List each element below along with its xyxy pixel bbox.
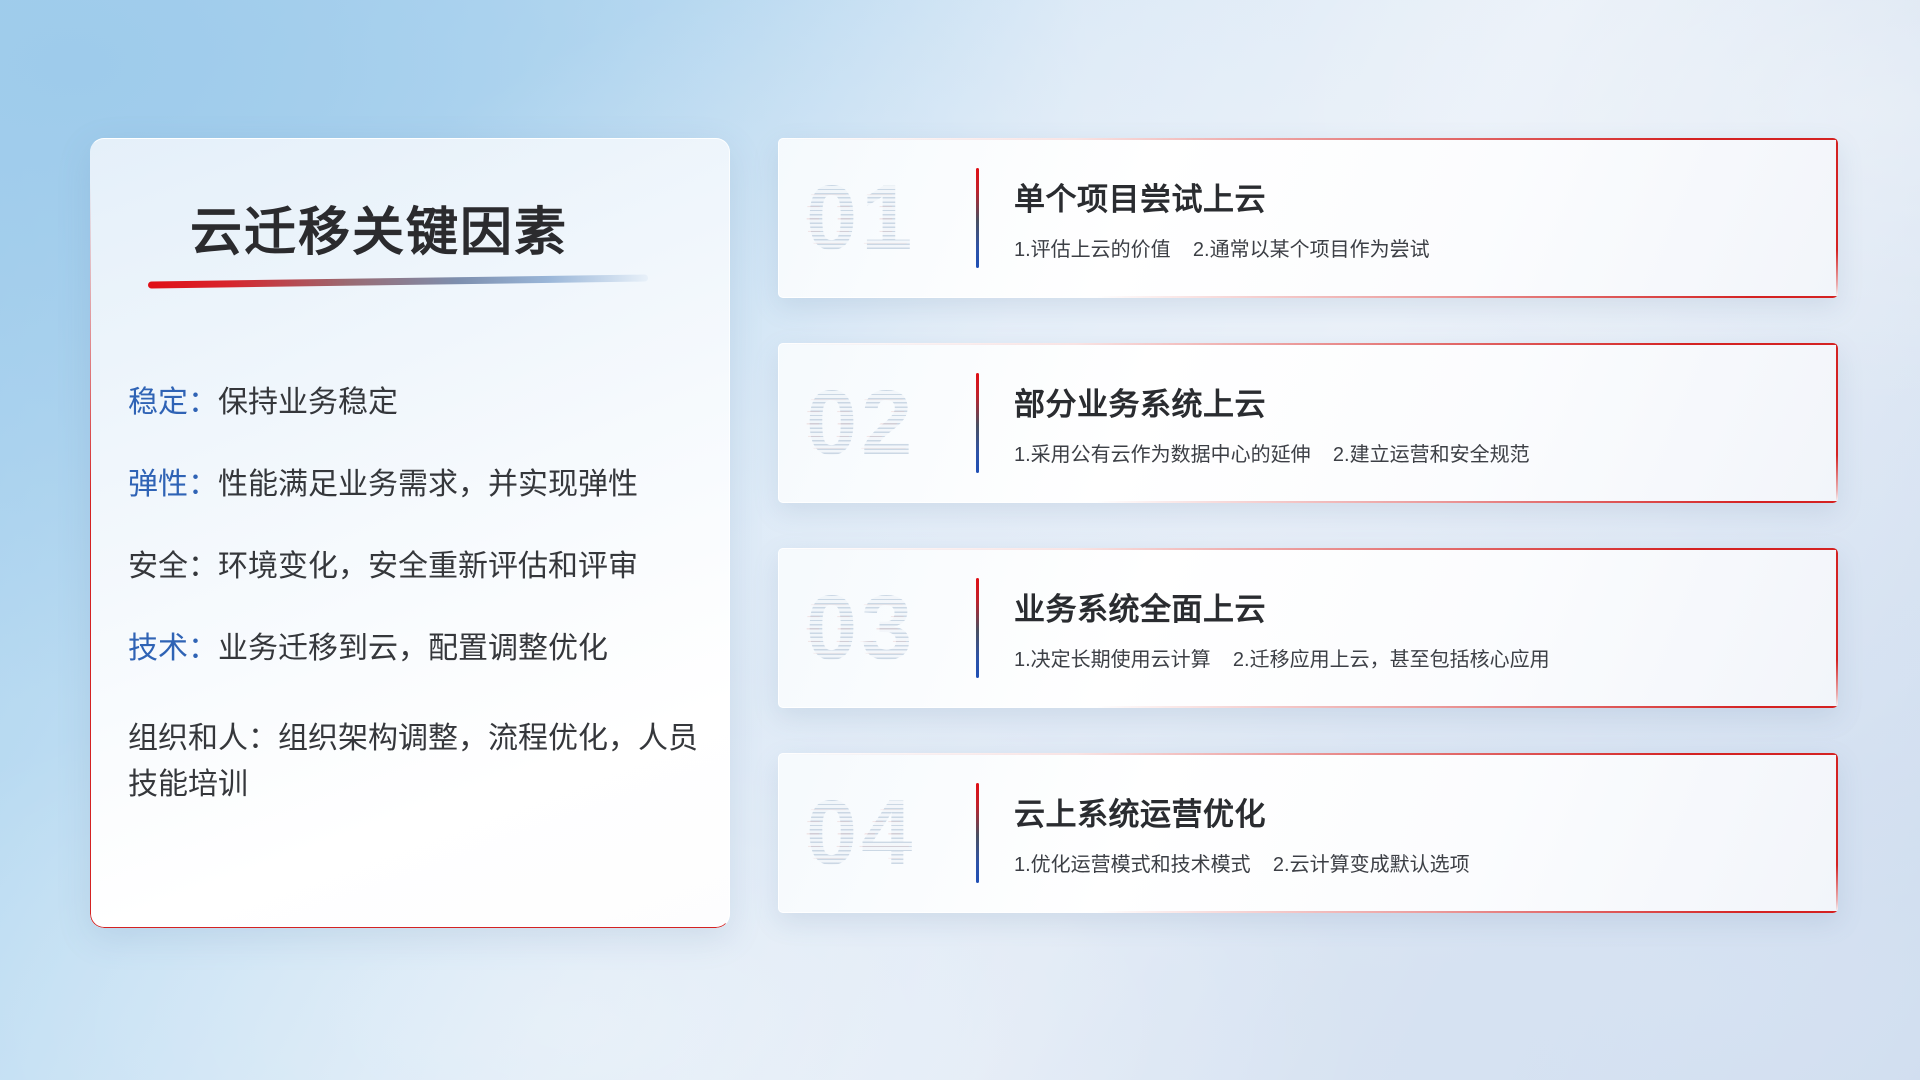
stage-subtitle-04: 1.优化运营模式和技术模式 2.云计算变成默认选项 xyxy=(1014,848,1798,877)
factor-value-stability: 保持业务稳定 xyxy=(218,386,398,419)
stage-number-03: 03 xyxy=(806,582,916,674)
factor-list: 稳定：保持业务稳定 弹性：性能满足业务需求，并实现弹性 安全：环境变化，安全重新… xyxy=(128,388,700,859)
card-accent-bar xyxy=(976,783,979,883)
stage-card-03[interactable]: 03 业务系统全面上云 1.决定长期使用云计算 2.迁移应用上云，甚至包括核心应… xyxy=(778,548,1838,708)
card-body: 部分业务系统上云 1.采用公有云作为数据中心的延伸 2.建立运营和安全规范 xyxy=(1014,379,1798,467)
card-red-top-edge xyxy=(778,343,1838,345)
card-red-right-edge xyxy=(1836,548,1838,708)
page-title: 云迁移关键因素 xyxy=(190,190,568,265)
stage-subtitle-02: 1.采用公有云作为数据中心的延伸 2.建立运营和安全规范 xyxy=(1014,438,1798,467)
card-red-right-edge xyxy=(1836,343,1838,503)
factor-value-elasticity: 性能满足业务需求，并实现弹性 xyxy=(218,468,638,501)
factor-item-elasticity: 弹性：性能满足业务需求，并实现弹性 xyxy=(128,470,700,500)
stage-number-04: 04 xyxy=(806,787,916,879)
stage-card-01[interactable]: 01 单个项目尝试上云 1.评估上云的价值 2.通常以某个项目作为尝试 xyxy=(778,138,1838,298)
card-body: 业务系统全面上云 1.决定长期使用云计算 2.迁移应用上云，甚至包括核心应用 xyxy=(1014,584,1798,672)
stage-title-01: 单个项目尝试上云 xyxy=(1014,174,1798,219)
migration-stage-cards: 01 单个项目尝试上云 1.评估上云的价值 2.通常以某个项目作为尝试 02 部… xyxy=(778,138,1838,958)
stage-subtitle-03: 1.决定长期使用云计算 2.迁移应用上云，甚至包括核心应用 xyxy=(1014,643,1798,672)
factor-value-technology: 业务迁移到云，配置调整优化 xyxy=(218,632,608,665)
card-red-top-edge xyxy=(778,548,1838,550)
title-underline-rule xyxy=(148,275,648,289)
factor-item-technology: 技术：业务迁移到云，配置调整优化 xyxy=(128,634,700,664)
factor-item-stability: 稳定：保持业务稳定 xyxy=(128,388,700,418)
stage-number-02: 02 xyxy=(806,377,916,469)
card-body: 单个项目尝试上云 1.评估上云的价值 2.通常以某个项目作为尝试 xyxy=(1014,174,1798,262)
card-red-top-edge xyxy=(778,753,1838,755)
stage-title-02: 部分业务系统上云 xyxy=(1014,379,1798,424)
card-accent-bar xyxy=(976,578,979,678)
card-body: 云上系统运营优化 1.优化运营模式和技术模式 2.云计算变成默认选项 xyxy=(1014,789,1798,877)
card-red-right-edge xyxy=(1836,138,1838,298)
factor-value-security: 环境变化，安全重新评估和评审 xyxy=(218,550,638,583)
stage-title-04: 云上系统运营优化 xyxy=(1014,789,1798,834)
card-red-top-edge xyxy=(778,138,1838,140)
factor-label-stability: 稳定： xyxy=(128,386,218,419)
factor-label-technology: 技术： xyxy=(128,632,218,665)
factor-label-security: 安全： xyxy=(128,550,218,583)
factor-label-organization: 组织和人： xyxy=(128,722,278,755)
stage-title-03: 业务系统全面上云 xyxy=(1014,584,1798,629)
slide-canvas: 云迁移关键因素 稳定：保持业务稳定 弹性：性能满足业务需求，并实现弹性 安全：环… xyxy=(0,0,1920,1080)
card-accent-bar xyxy=(976,373,979,473)
stage-card-02[interactable]: 02 部分业务系统上云 1.采用公有云作为数据中心的延伸 2.建立运营和安全规范 xyxy=(778,343,1838,503)
factor-item-security: 安全：环境变化，安全重新评估和评审 xyxy=(128,552,700,582)
stage-card-04[interactable]: 04 云上系统运营优化 1.优化运营模式和技术模式 2.云计算变成默认选项 xyxy=(778,753,1838,913)
card-red-bottom-edge xyxy=(778,296,1838,298)
card-accent-bar xyxy=(976,168,979,268)
factor-item-organization: 组织和人：组织架构调整，流程优化，人员技能培训 xyxy=(128,716,700,807)
stage-subtitle-01: 1.评估上云的价值 2.通常以某个项目作为尝试 xyxy=(1014,233,1798,262)
card-red-right-edge xyxy=(1836,753,1838,913)
card-red-bottom-edge xyxy=(778,911,1838,913)
card-red-bottom-edge xyxy=(778,501,1838,503)
key-factors-panel: 云迁移关键因素 稳定：保持业务稳定 弹性：性能满足业务需求，并实现弹性 安全：环… xyxy=(90,138,730,928)
card-red-bottom-edge xyxy=(778,706,1838,708)
factor-label-elasticity: 弹性： xyxy=(128,468,218,501)
stage-number-01: 01 xyxy=(806,172,916,264)
